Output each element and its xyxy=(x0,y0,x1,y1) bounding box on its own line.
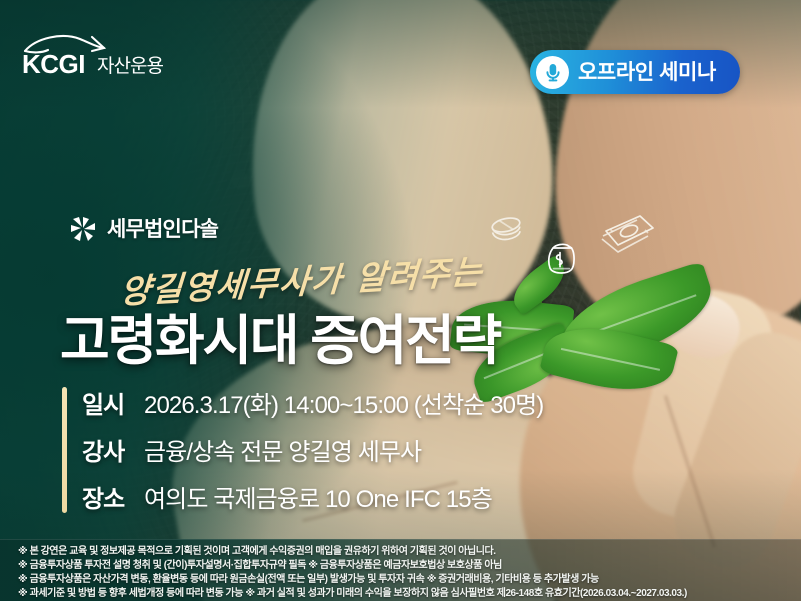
info-row-datetime: 일시 2026.3.17(화) 14:00~15:00 (선착순 30명) xyxy=(82,385,732,432)
info-value: 금융/상속 전문 양길영 세무사 xyxy=(144,432,421,467)
offline-seminar-badge-label: 오프라인 세미나 xyxy=(578,62,716,83)
disclaimer-line: ※ 본 강연은 교육 및 정보제공 목적으로 기획된 것이며 고객에게 수익증권… xyxy=(18,545,801,559)
disclaimer-line: ※ 과세기준 및 방법 등 향후 세법개정 등에 따라 변동 가능 ※ 과거 실… xyxy=(18,587,801,601)
microphone-icon xyxy=(536,56,569,89)
seminar-promo-banner: KCGI 자산운용 오프라인 세미나 세무법인 xyxy=(0,0,801,601)
info-accent-bar xyxy=(62,387,67,513)
disclaimer-line: ※ 금융투자상품은 자산가격 변동, 환율변동 등에 따라 원금손실(전액 또는… xyxy=(18,573,801,587)
offline-seminar-badge[interactable]: 오프라인 세미나 xyxy=(530,50,740,94)
kcgi-logo-suffix: 자산운용 xyxy=(97,55,163,77)
info-value: 여의도 국제금융로 10 One IFC 15층 xyxy=(144,479,492,514)
disclaimer-line: ※ 금융투자상품 투자전 설명 청취 및 (간이)투자설명서·집합투자규약 필독… xyxy=(18,559,801,573)
partner-brand-name: 세무법인다솔 xyxy=(107,219,218,240)
info-label: 강사 xyxy=(82,432,144,467)
money-bag-icon xyxy=(540,239,582,282)
page-title: 고령화시대 증여전략 xyxy=(60,313,500,370)
banknotes-icon xyxy=(596,208,658,265)
coin-stack-icon xyxy=(487,214,527,253)
pinwheel-logo-icon xyxy=(68,214,98,244)
info-value: 2026.3.17(화) 14:00~15:00 (선착순 30명) xyxy=(144,385,543,420)
info-row-speaker: 강사 금융/상속 전문 양길영 세무사 xyxy=(82,432,732,479)
info-row-venue: 장소 여의도 국제금융로 10 One IFC 15층 xyxy=(82,479,732,526)
info-label: 일시 xyxy=(82,385,144,420)
partner-brand: 세무법인다솔 xyxy=(68,214,218,244)
kcgi-logo: KCGI 자산운용 xyxy=(22,31,182,77)
info-label: 장소 xyxy=(82,479,144,514)
kcgi-wordmark: KCGI xyxy=(22,49,85,77)
disclaimer: ※ 본 강연은 교육 및 정보제공 목적으로 기획된 것이며 고객에게 수익증권… xyxy=(0,539,801,601)
info-list: 일시 2026.3.17(화) 14:00~15:00 (선착순 30명) 강사… xyxy=(82,385,732,526)
